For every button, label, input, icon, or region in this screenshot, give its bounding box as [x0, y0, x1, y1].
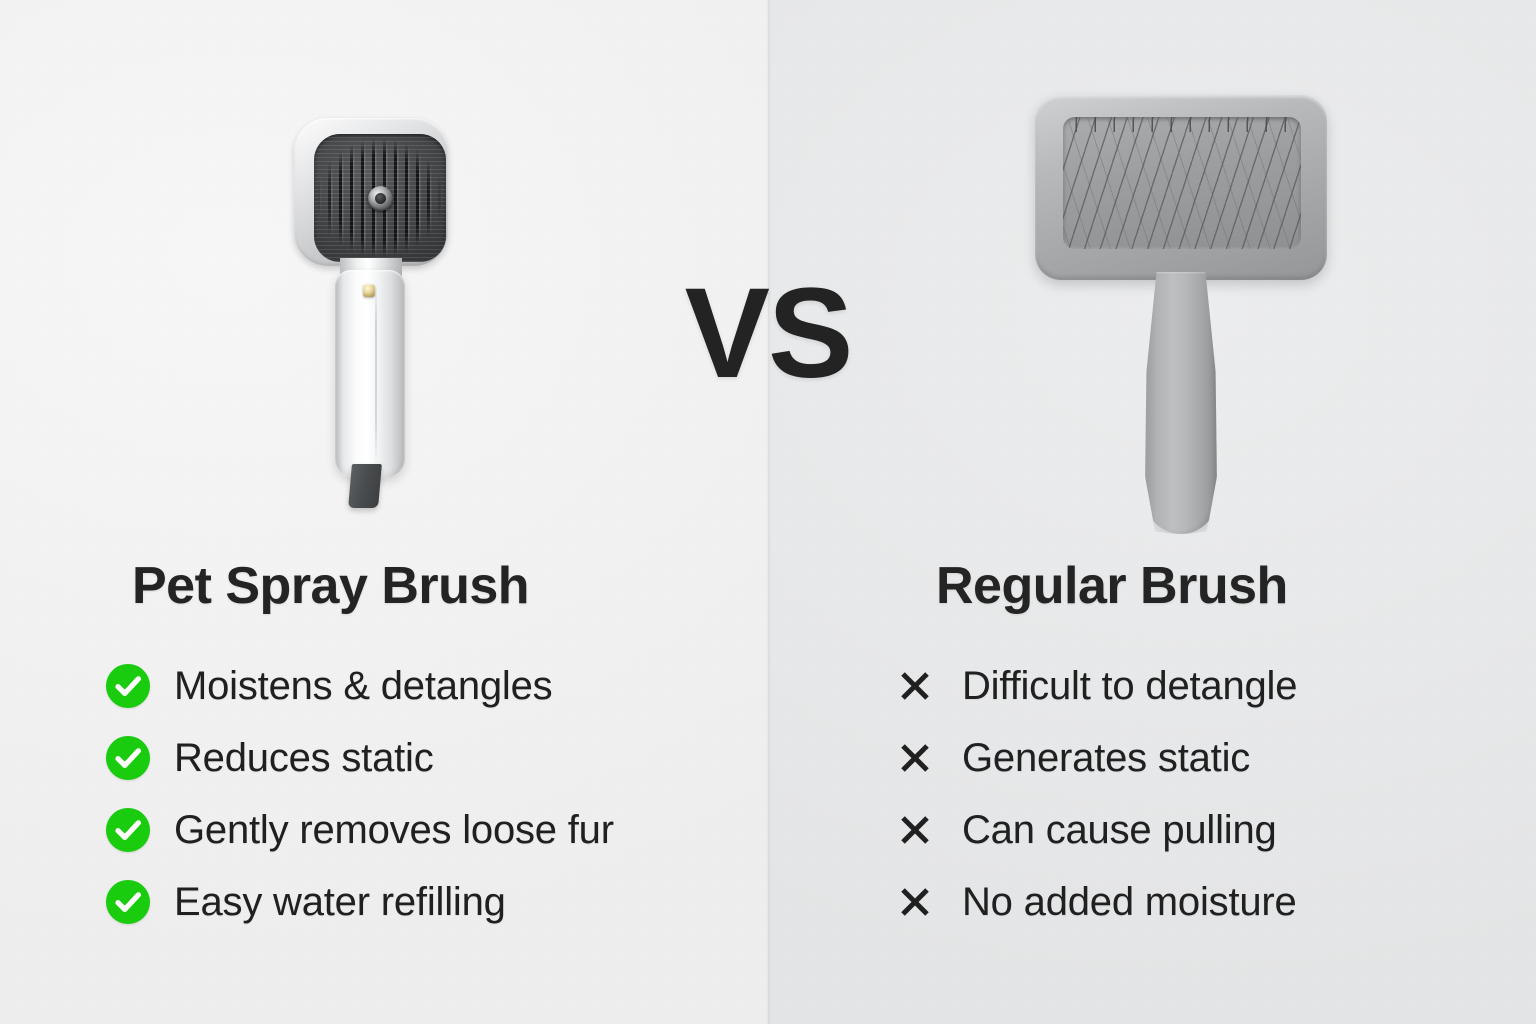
vs-label: VS — [0, 270, 1536, 398]
spray-brush-head-frame — [294, 118, 448, 266]
list-item: Generates static — [898, 722, 1498, 794]
feature-label: Generates static — [962, 736, 1250, 781]
regular-brush-wire-pins — [1063, 117, 1301, 249]
list-item: Can cause pulling — [898, 794, 1498, 866]
regular-brush-head — [1035, 95, 1327, 280]
regular-brush-pin-panel — [1063, 117, 1301, 249]
x-mark-icon — [898, 741, 932, 775]
green-check-circle-icon — [106, 808, 150, 852]
feature-label: Difficult to detangle — [962, 664, 1297, 709]
left-product-title: Pet Spray Brush — [132, 560, 746, 612]
feature-label: Reduces static — [174, 736, 434, 781]
spray-brush-base-tip — [348, 464, 382, 508]
spray-nozzle-icon — [368, 186, 393, 211]
spray-brush-bristle-pad — [314, 134, 446, 262]
product-comparison-infographic: VS Pet Spray Brush Moistens & detangles — [0, 0, 1536, 1024]
right-feature-list: Difficult to detangle Generates static C… — [898, 650, 1498, 938]
green-check-circle-icon — [106, 736, 150, 780]
feature-label: Can cause pulling — [962, 808, 1277, 853]
green-check-circle-icon — [106, 880, 150, 924]
x-mark-icon — [898, 885, 932, 919]
feature-label: No added moisture — [962, 880, 1297, 925]
list-item: Difficult to detangle — [898, 650, 1498, 722]
list-item: No added moisture — [898, 866, 1498, 938]
green-check-circle-icon — [106, 664, 150, 708]
right-column: Regular Brush Difficult to detangle Gene… — [898, 560, 1498, 938]
feature-label: Moistens & detangles — [174, 664, 552, 709]
list-item: Moistens & detangles — [106, 650, 746, 722]
left-column: Pet Spray Brush Moistens & detangles Red… — [106, 560, 746, 938]
feature-label: Gently removes loose fur — [174, 808, 614, 853]
left-feature-list: Moistens & detangles Reduces static Gent… — [106, 650, 746, 938]
regular-brush-pin-row-top — [1067, 117, 1297, 132]
right-product-title: Regular Brush — [936, 560, 1498, 612]
x-mark-icon — [898, 669, 932, 703]
list-item: Easy water refilling — [106, 866, 746, 938]
list-item: Gently removes loose fur — [106, 794, 746, 866]
x-mark-icon — [898, 813, 932, 847]
list-item: Reduces static — [106, 722, 746, 794]
feature-label: Easy water refilling — [174, 880, 506, 925]
